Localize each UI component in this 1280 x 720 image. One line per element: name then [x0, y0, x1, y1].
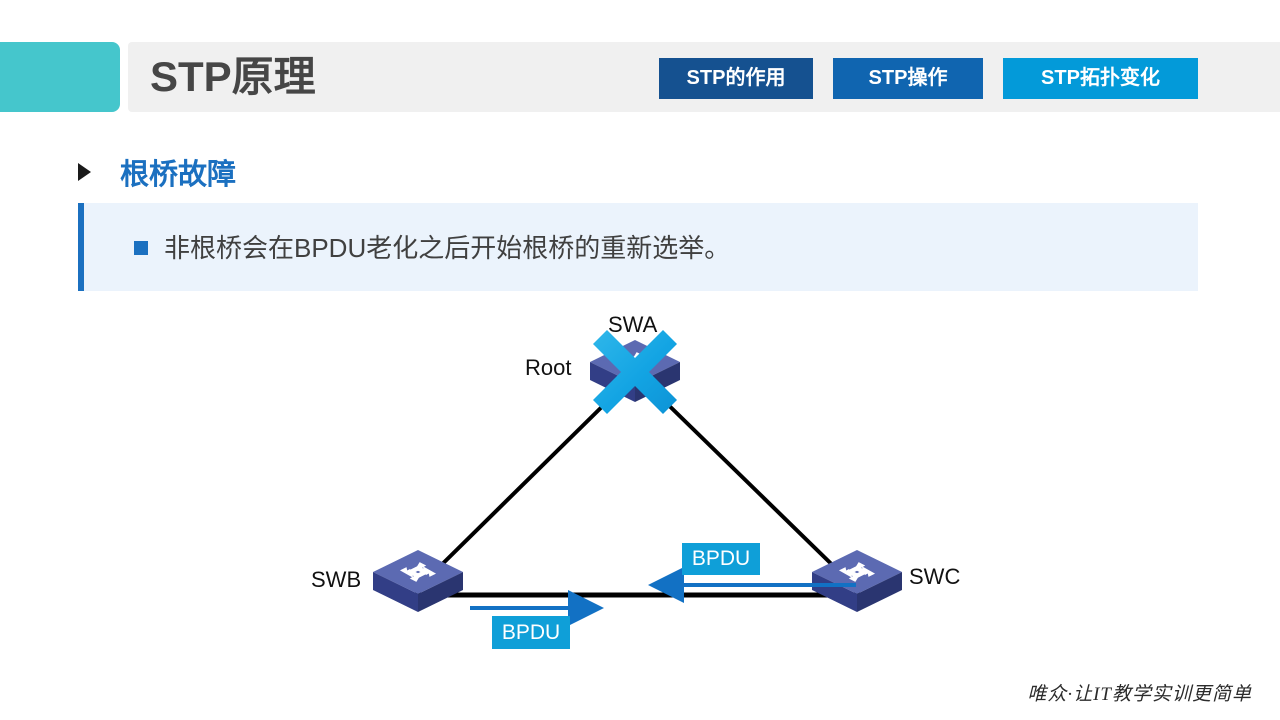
tab-stp-topology-change[interactable]: STP拓扑变化: [1003, 58, 1198, 99]
network-topology-diagram: [0, 300, 1280, 660]
content-callout-box: 非根桥会在BPDU老化之后开始根桥的重新选举。: [78, 203, 1198, 291]
link-swa-swb: [418, 388, 621, 588]
bpdu-label-swb-to-swc: BPDU: [492, 616, 570, 649]
node-label-swb: SWB: [311, 567, 361, 593]
topology-canvas: [0, 300, 1280, 660]
footer-slogan: 唯众·让IT教学实训更简单: [1027, 679, 1252, 706]
node-label-root: Root: [525, 355, 571, 381]
topology-links: [400, 388, 876, 595]
header-accent-block: [0, 42, 120, 112]
node-label-swc: SWC: [909, 564, 960, 590]
tab-stp-operation[interactable]: STP操作: [833, 58, 983, 99]
node-label-swa: SWA: [608, 312, 657, 338]
page-title: STP原理: [150, 46, 316, 108]
square-bullet-icon: [134, 241, 148, 255]
section-heading-label: 根桥故障: [120, 151, 236, 193]
section-heading: 根桥故障: [78, 152, 236, 192]
triangle-right-icon: [78, 163, 91, 181]
bpdu-label-swc-to-swb: BPDU: [682, 543, 760, 575]
content-callout-text: 非根桥会在BPDU老化之后开始根桥的重新选举。: [164, 228, 730, 268]
tab-stp-purpose[interactable]: STP的作用: [659, 58, 813, 99]
